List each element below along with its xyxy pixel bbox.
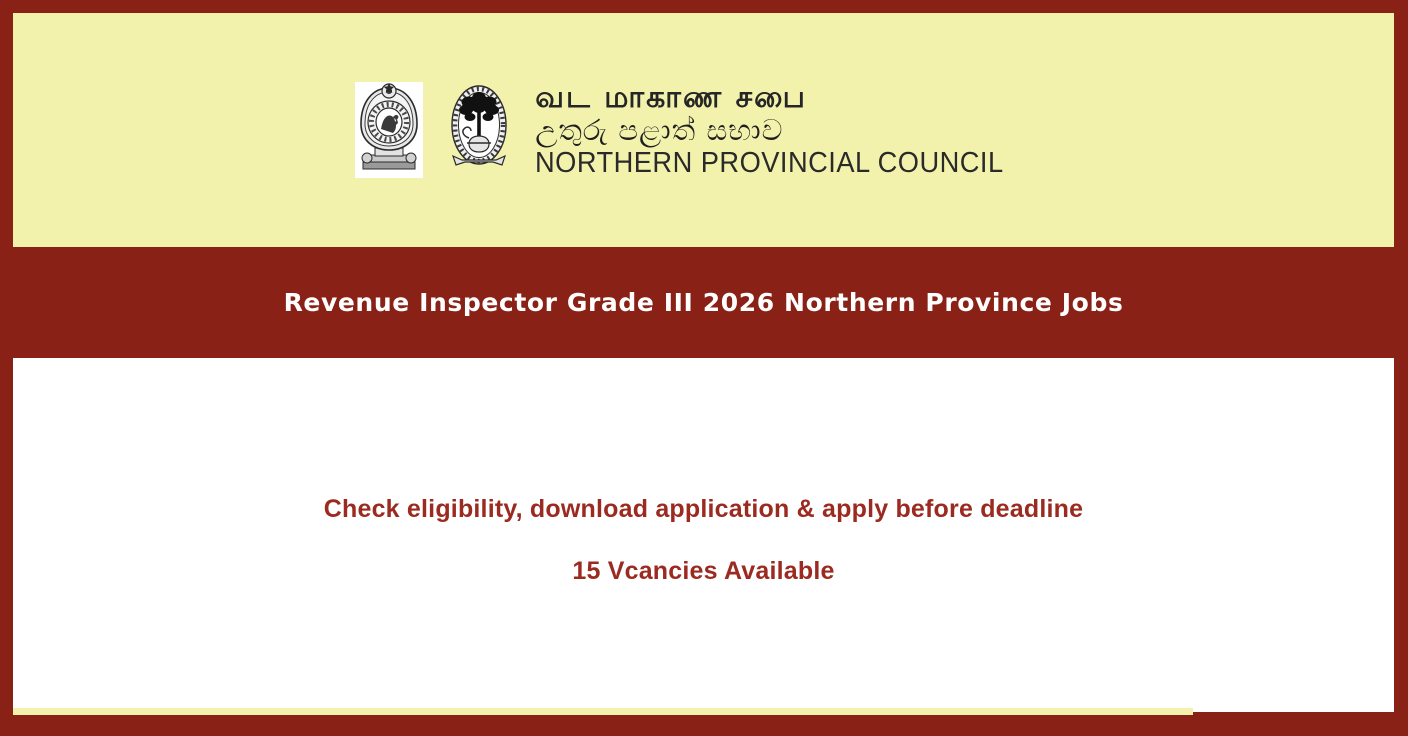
logo-text-block: வட மாகாண சபை උතුරු පළාත් සභාව NORTHERN P…	[535, 83, 1034, 178]
content-panel: Check eligibility, download application …	[13, 358, 1394, 712]
bottom-accent-strip	[13, 708, 1193, 715]
header-panel: வட மாகாண சபை උතුරු පළාත් සභාව NORTHERN P…	[13, 13, 1394, 247]
northern-provincial-council-logo: வட மாகாண சபை උතුරු පළාත් සභාව NORTHERN P…	[355, 82, 1034, 178]
title-band: Revenue Inspector Grade III 2026 Norther…	[13, 247, 1394, 358]
eligibility-instruction-text: Check eligibility, download application …	[324, 495, 1083, 524]
job-advertisement-poster: வட மாகாண சபை උතුරු පළාත් සභාව NORTHERN P…	[0, 0, 1408, 736]
northern-provincial-council-emblem-icon	[445, 82, 513, 178]
logo-tamil-name: வட மாகாண சபை	[535, 83, 1034, 113]
crest-group	[355, 82, 513, 178]
vacancy-count-text: 15 Vcancies Available	[572, 557, 834, 586]
sri-lanka-national-emblem-icon	[355, 82, 423, 178]
logo-sinhala-name: උතුරු පළාත් සභාව	[535, 116, 1034, 145]
logo-english-name: NORTHERN PROVINCIAL COUNCIL	[535, 149, 1004, 178]
page-title: Revenue Inspector Grade III 2026 Norther…	[284, 288, 1124, 317]
